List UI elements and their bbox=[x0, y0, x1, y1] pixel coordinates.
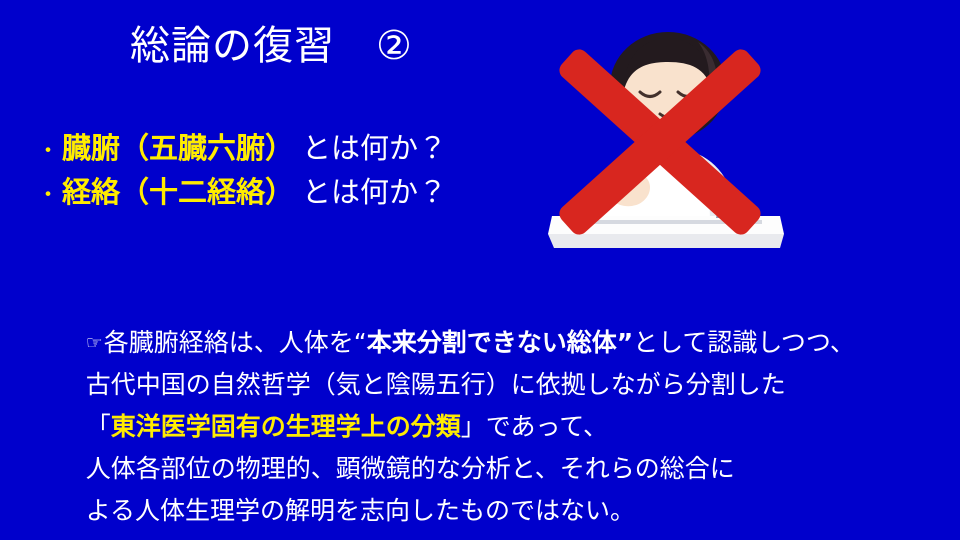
body-segment-emphasis: 本来分割できない総体 bbox=[367, 328, 617, 357]
body-segment: 古代中国の自然哲学（気と陰陽五行）に依拠しながら分割した bbox=[86, 370, 786, 399]
body-segment: 各臓腑経絡は、人体を“ bbox=[104, 328, 367, 357]
bullet-emphasis-text: 経絡（十二経絡） bbox=[62, 172, 294, 212]
body-segment: 人体各部位の物理的、顕微鏡的な分析と、それらの総合に bbox=[86, 454, 735, 483]
body-segment: であって、 bbox=[486, 412, 608, 441]
presentation-slide: 総論の復習 ② bbox=[0, 0, 960, 540]
bullet-emphasis-text: 臓腑（五臓六腑） bbox=[62, 128, 294, 168]
body-line: ☞各臓腑経絡は、人体を“本来分割できない総体”として認識しつつ、 bbox=[38, 283, 943, 325]
bullet-tail-text: とは何か？ bbox=[294, 128, 447, 168]
list-item: ・ 経絡（十二経絡） とは何か？ bbox=[34, 172, 554, 216]
body-segment: 」 bbox=[461, 412, 486, 441]
body-paragraph: ☞各臓腑経絡は、人体を“本来分割できない総体”として認識しつつ、 古代中国の自然… bbox=[38, 283, 943, 493]
page-title: 総論の復習 ② bbox=[130, 20, 413, 72]
bullet-marker-icon: ・ bbox=[34, 141, 62, 163]
body-segment: よる人体生理学の解明を志向したものではない。 bbox=[86, 496, 635, 525]
red-x-cross-out-icon bbox=[548, 32, 772, 252]
body-segment-emphasis: ” bbox=[617, 328, 633, 357]
bullet-list: ・ 臓腑（五臓六腑） とは何か？ ・ 経絡（十二経絡） とは何か？ bbox=[34, 128, 554, 216]
pointing-hand-icon: ☞ bbox=[86, 332, 104, 354]
bullet-tail-text: とは何か？ bbox=[294, 172, 447, 212]
list-item: ・ 臓腑（五臓六腑） とは何か？ bbox=[34, 128, 554, 172]
body-segment: 「 bbox=[86, 412, 111, 441]
body-segment: として認識しつつ、 bbox=[633, 328, 855, 357]
bullet-marker-icon: ・ bbox=[34, 185, 62, 207]
body-segment-highlight: 東洋医学固有の生理学上の分類 bbox=[111, 412, 461, 441]
